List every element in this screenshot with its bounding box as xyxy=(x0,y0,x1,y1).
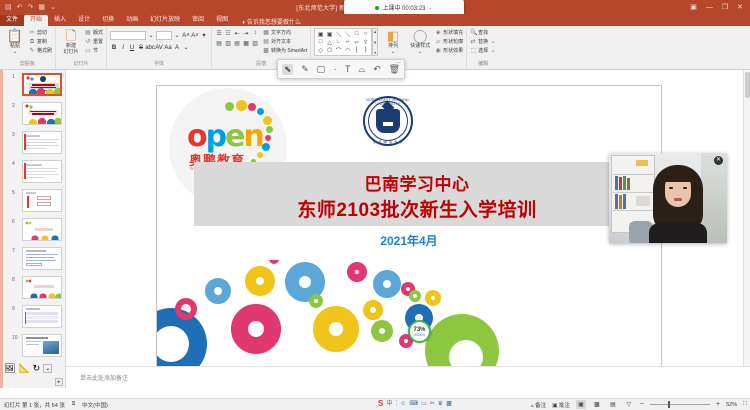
format-painter-label: 格式刷 xyxy=(37,47,52,55)
new-slide-label-2: 幻灯片 xyxy=(64,49,79,55)
font-group-label: 字体 xyxy=(110,61,208,69)
character-spacing-button[interactable]: AV xyxy=(155,43,163,52)
shapes-gallery-scroll[interactable]: ▲ ▼ ▾ xyxy=(372,28,378,56)
shape-outline-icon: ▱ xyxy=(435,38,441,46)
shape-square2-icon[interactable]: □ xyxy=(316,38,325,46)
thumbnail-slide-9[interactable] xyxy=(22,305,62,328)
shape-fill-icon: ◈ xyxy=(435,29,441,37)
shape-outline-label: 形状轮廓 xyxy=(443,38,463,46)
text-tool-icon[interactable]: T xyxy=(345,65,351,74)
media-control-strip[interactable]: 🖼 📐 ↻ ⌄ xyxy=(4,360,52,376)
language-label[interactable]: 中文(中国) xyxy=(82,401,108,409)
change-case-button[interactable]: Aa xyxy=(164,43,172,52)
scissors-icon: ✂ xyxy=(29,29,35,37)
ribbon-group-slides: 🗋 新建 幻灯片 ▤ 版式 ↺ 重置 ▭ 节 xyxy=(56,26,107,69)
thumbnail-number-3: 3 xyxy=(12,132,15,138)
select-button[interactable]: ⬚ 选择 ⌄ xyxy=(470,47,496,55)
screenshot-icon[interactable]: 🖼 xyxy=(4,363,15,374)
sogou-logo-icon[interactable]: S xyxy=(378,400,383,408)
ribbon-group-font: ⌄ ⌄ A˄ A˅ ✦ B I U S abc AV Aa A ⌄ xyxy=(107,26,212,69)
thumbnail-number-6: 6 xyxy=(12,219,15,225)
select-dropdown-icon[interactable]: ⌄ xyxy=(490,47,496,55)
slide-count-label: 幻灯片 第 1 张，共 54 张 xyxy=(4,401,65,409)
shape-rect-icon[interactable]: ▣ xyxy=(316,30,325,38)
shape-outline-button[interactable]: ▱ 形状轮廓 xyxy=(435,38,463,46)
tab-animations[interactable]: 动画 xyxy=(120,15,144,26)
select-icon: ⬚ xyxy=(470,47,476,55)
ime-crown-icon[interactable]: ♛ xyxy=(438,401,443,407)
format-painter-icon: ✎ xyxy=(29,47,35,55)
columns-button[interactable]: ▥ xyxy=(251,39,259,47)
pointer-tool-icon[interactable]: ⬉ xyxy=(282,64,294,75)
tab-insert[interactable]: 插入 xyxy=(48,15,72,26)
undo-tool-icon[interactable]: ↶ xyxy=(373,65,381,74)
editing-group-label: 编辑 xyxy=(470,61,496,69)
shape-circle-icon[interactable]: ○ xyxy=(361,30,370,38)
align-text-label: 对齐文本 xyxy=(271,38,291,46)
decrease-indent-button[interactable]: ⇤ xyxy=(233,29,241,37)
thumbnail-slide-8[interactable] xyxy=(22,276,62,299)
format-painter-button[interactable]: ✎ 格式刷 xyxy=(29,47,52,55)
shape-arrow-up-icon[interactable]: ⇧ xyxy=(361,38,370,46)
normal-view-button[interactable]: ▣ xyxy=(576,400,586,409)
find-button[interactable]: 🔍 查找 xyxy=(470,29,496,37)
bullets-button[interactable]: ☰ xyxy=(215,29,223,37)
thumbnail-number-4: 4 xyxy=(12,161,15,167)
paste-icon: 📋 xyxy=(7,29,23,43)
shape-square-icon[interactable]: □ xyxy=(352,30,361,38)
font-color-dropdown-icon[interactable]: ⌄ xyxy=(182,43,190,52)
tab-home[interactable]: 开始 xyxy=(24,15,48,26)
share-screen-icon[interactable]: 📐 xyxy=(18,363,29,374)
font-size-dropdown-icon[interactable]: ⌄ xyxy=(173,31,181,40)
quick-styles-button[interactable]: ◯ 快速样式 ⌄ xyxy=(408,28,432,55)
zoom-slider-track xyxy=(650,404,710,405)
notes-pane[interactable]: 单击此处添加备注 xyxy=(66,366,750,388)
quick-styles-icon: ◯ xyxy=(413,29,428,43)
shape-fill-label: 形状填充 xyxy=(443,29,463,37)
scroll-down-icon[interactable]: ▼ xyxy=(373,40,377,45)
notes-toggle-button[interactable]: ▵ 备注 xyxy=(531,401,546,409)
copy-icon: ⧉ xyxy=(29,38,35,46)
minimize-button[interactable]: — xyxy=(706,4,713,11)
replace-label: 替换 xyxy=(478,38,488,46)
chevron-down-icon[interactable]: ⌄ xyxy=(428,5,432,11)
tab-review[interactable]: 审阅 xyxy=(186,15,210,26)
shape-rect2-icon[interactable]: ▣ xyxy=(325,30,334,38)
underline-button[interactable]: U xyxy=(128,43,136,52)
shape-paren-icon[interactable]: ) xyxy=(361,46,370,54)
paste-dropdown-icon[interactable]: ⌄ xyxy=(13,49,17,55)
thumbnail-slide-5[interactable] xyxy=(22,189,62,212)
cut-button[interactable]: ✂ 剪切 xyxy=(29,29,52,37)
decorative-circle-band xyxy=(157,260,661,370)
recording-dot-icon xyxy=(375,6,379,10)
ink-annotation-toolbar[interactable]: — ⬉ ✎ ▢ ⌄ T ⌓ ↶ 🗑 xyxy=(277,59,405,79)
tab-transitions[interactable]: 切换 xyxy=(96,15,120,26)
arrange-button[interactable]: ◧ 排列 ⌄ xyxy=(381,28,405,55)
thumbnail-pane-expand-button[interactable]: ▸ xyxy=(55,378,63,386)
quick-styles-dropdown-icon[interactable]: ⌄ xyxy=(418,49,422,55)
slide-thumbnail-pane[interactable]: 1 2 3 xyxy=(0,70,66,388)
slide-title-line-2: 东师2103批次新生入学培训 xyxy=(194,195,640,222)
thumbnail-rail xyxy=(0,70,3,388)
reset-button[interactable]: ↺ 重置 xyxy=(85,38,103,46)
ribbon-group-editing: 🔍 查找 ⇄ 替换 ⌄ ⬚ 选择 ⌄ 编辑 xyxy=(467,26,499,69)
layout-label: 版式 xyxy=(93,29,103,37)
sogou-ime-bar[interactable]: S 中 ⁚ ☺ ⌨ ▭ ✂ ♛ ▩ xyxy=(378,398,452,409)
new-slide-icon: 🗋 xyxy=(66,29,76,43)
increase-font-size-icon[interactable]: A˄ xyxy=(182,31,190,40)
justify-button[interactable]: ▦ xyxy=(242,39,250,47)
shape-curve-icon[interactable]: ◠ xyxy=(343,46,352,54)
shape-line-icon[interactable]: ＼ xyxy=(334,30,343,38)
zoom-out-button[interactable]: − xyxy=(640,401,644,408)
slide-title-line-1: 巴南学习中心 xyxy=(194,170,640,195)
select-label: 选择 xyxy=(478,47,488,55)
ribbon-tab-bar: 文件 开始 插入 设计 切换 动画 幻灯片放映 审阅 视图 ♦ 告诉我您想要做什… xyxy=(0,14,750,26)
section-icon: ▭ xyxy=(85,47,91,55)
recording-status-pill[interactable]: 上课中 00:03:23 ⌄ xyxy=(344,0,464,15)
thumbnail-number-10: 10 xyxy=(12,335,18,341)
toolbar-collapse-icon[interactable]: — xyxy=(396,60,401,66)
shadow-button[interactable]: S xyxy=(137,43,145,52)
shape-bracket-icon[interactable]: ⌐ xyxy=(343,38,352,46)
webcam-eye-left xyxy=(669,187,673,189)
powerpoint-window: ▤ ↶ ↷ ▦ ⌄ [东北师范大学] 新生入学培训（巴南）.pptx - Pow… xyxy=(0,0,750,410)
shape-fill-button[interactable]: ◈ 形状填充 xyxy=(435,29,463,37)
work-area: 1 2 3 xyxy=(0,70,750,388)
reset-icon: ↺ xyxy=(85,38,91,46)
webcam-video-overlay[interactable]: ✕ xyxy=(609,153,727,243)
spellcheck-icon[interactable]: ⌸ xyxy=(72,401,75,408)
fit-slide-button[interactable]: ⛶ xyxy=(743,401,747,408)
reading-view-button[interactable]: ▤ xyxy=(608,400,618,409)
font-color-button[interactable]: A xyxy=(173,43,181,52)
copy-label: 复制 xyxy=(37,38,47,46)
italic-button[interactable]: I xyxy=(119,43,127,52)
ime-menu-icon[interactable]: ▩ xyxy=(446,401,452,407)
webcam-bangs xyxy=(663,171,693,182)
slide-pane-scrollbar[interactable] xyxy=(743,70,750,366)
shape-pentagon-icon[interactable]: ⬠ xyxy=(325,46,334,54)
current-slide[interactable]: open 奥鹏教育 www.open.com.cn NORTHEAST NORM… xyxy=(157,86,661,370)
tell-me-search[interactable]: ♦ 告诉我您想要做什么 xyxy=(234,17,301,26)
logo-wordmark: open xyxy=(187,122,263,152)
webcam-torso xyxy=(649,223,707,243)
slide-date: 2021年4月 xyxy=(157,232,661,249)
ribbon-display-options-icon[interactable]: ▣ xyxy=(690,4,697,11)
layout-button[interactable]: ▤ 版式 xyxy=(85,29,103,37)
thumbnail-slide-7[interactable] xyxy=(22,247,62,270)
thumbnail-slide-1[interactable] xyxy=(22,73,62,96)
tab-design[interactable]: 设计 xyxy=(72,15,96,26)
bold-button[interactable]: B xyxy=(110,43,118,52)
cut-label: 剪切 xyxy=(37,29,47,37)
shape-effects-icon: ◉ xyxy=(435,47,441,55)
align-text-icon: ▤ xyxy=(263,38,269,46)
decrease-font-size-icon[interactable]: A˅ xyxy=(191,31,199,40)
webcam-eye-right xyxy=(683,187,687,189)
slides-group-label: 幻灯片 xyxy=(59,61,103,69)
find-label: 查找 xyxy=(478,29,488,37)
ribbon-group-clipboard: 📋 粘贴 ⌄ ✂ 剪切 ⧉ 复制 ✎ 格式刷 xyxy=(0,26,56,69)
shape-tool-icon[interactable]: ▢ xyxy=(317,65,326,74)
webcam-mouth xyxy=(674,198,682,201)
font-size-input[interactable] xyxy=(156,31,172,40)
shapes-gallery[interactable]: ▣ ▣ ＼ ＼ □ ○ □ △ ∟ ⌐ ⇦ ⇧ ◇ ⬠ ⌒ xyxy=(314,28,372,56)
ime-mode-chinese-icon[interactable]: 中 xyxy=(386,401,392,407)
thumbnail-number-1: 1 xyxy=(12,74,15,80)
thumbnail-number-9: 9 xyxy=(12,306,15,312)
numbering-button[interactable]: ☷ xyxy=(224,29,232,37)
ime-tools-icon[interactable]: ✂ xyxy=(430,401,435,407)
thumbnail-number-5: 5 xyxy=(12,190,15,196)
shape-effects-button[interactable]: ◉ 形状效果 xyxy=(435,47,463,55)
copy-button[interactable]: ⧉ 复制 xyxy=(29,38,52,46)
university-seal: NORTHEAST NORMAL UNIVERSITY 东 北 师 范 大 学 xyxy=(354,94,420,152)
reset-label: 重置 xyxy=(93,38,103,46)
comments-toggle-button[interactable]: ▣ 批注 xyxy=(552,401,570,409)
download-speed: 392K/s xyxy=(414,333,425,337)
align-left-button[interactable]: ▤ xyxy=(215,39,223,47)
font-name-input[interactable] xyxy=(110,31,146,40)
align-center-button[interactable]: ▥ xyxy=(224,39,232,47)
ime-panel-icon[interactable]: ▭ xyxy=(421,401,427,407)
increase-indent-button[interactable]: ⇥ xyxy=(242,29,250,37)
strikethrough-button[interactable]: abc xyxy=(146,43,154,52)
seal-text-top: NORTHEAST NORMAL UNIVERSITY xyxy=(354,98,422,106)
new-slide-button[interactable]: 🗋 新建 幻灯片 xyxy=(59,28,83,55)
thumbnail-slide-6[interactable] xyxy=(22,218,62,241)
shape-effects-label: 形状效果 xyxy=(443,47,463,55)
section-label: 节 xyxy=(93,47,98,55)
thumbnail-number-7: 7 xyxy=(12,248,15,254)
thumbnail-number-2: 2 xyxy=(12,103,15,109)
slideshow-view-button[interactable]: ▽ xyxy=(624,400,634,409)
restore-button[interactable]: ❐ xyxy=(722,4,728,11)
shape-diamond-icon[interactable]: ◇ xyxy=(316,46,325,54)
zoom-slider-handle[interactable] xyxy=(668,401,670,408)
more-options-icon[interactable]: ⌄ xyxy=(43,364,52,373)
shape-arc-icon[interactable]: ⌒ xyxy=(334,46,343,54)
section-button[interactable]: ▭ 节 xyxy=(85,47,103,55)
replace-dropdown-icon[interactable]: ⌄ xyxy=(490,38,496,46)
convert-smartart-label: 转换为 SmartArt xyxy=(271,47,307,55)
download-progress-badge[interactable]: 73% 392K/s xyxy=(408,320,431,343)
seal-text-bottom: 东 北 师 范 大 学 xyxy=(354,140,422,145)
thumbnail-slide-3[interactable] xyxy=(22,131,62,154)
tab-slideshow[interactable]: 幻灯片放映 xyxy=(144,15,186,26)
close-button[interactable]: ✕ xyxy=(737,4,743,11)
replace-button[interactable]: ⇄ 替换 ⌄ xyxy=(470,38,496,46)
shapes-more-icon[interactable]: ▾ xyxy=(374,50,376,55)
convert-smartart-button[interactable]: ▩ 转换为 SmartArt xyxy=(263,47,307,55)
shape-dropdown-icon[interactable]: ⌄ xyxy=(333,67,337,72)
shape-brace-icon[interactable]: { xyxy=(352,46,361,54)
zoom-slider[interactable] xyxy=(650,400,710,409)
text-direction-icon: ▦ xyxy=(263,29,269,37)
paste-button[interactable]: 📋 粘贴 ⌄ xyxy=(3,28,27,55)
status-bar: 幻灯片 第 1 张，共 54 张 ⌸ 中文(中国) ▵ 备注 ▣ 批注 ▣ ▩ … xyxy=(0,398,750,410)
text-direction-button[interactable]: ▦ 文字方向 xyxy=(263,29,307,37)
ime-keyboard-icon[interactable]: ⌨ xyxy=(409,401,418,407)
thumbnail-slide-4[interactable] xyxy=(22,160,62,183)
pen-tool-icon[interactable]: ✎ xyxy=(301,65,309,74)
scroll-up-icon[interactable]: ▲ xyxy=(373,29,377,34)
ime-emoji-icon[interactable]: ☺ xyxy=(400,401,406,407)
clear-formatting-icon[interactable]: ✦ xyxy=(200,31,208,40)
text-direction-label: 文字方向 xyxy=(271,29,291,37)
font-name-dropdown-icon[interactable]: ⌄ xyxy=(147,31,155,40)
smartart-icon: ▩ xyxy=(263,47,269,55)
line-spacing-button[interactable]: ↕ xyxy=(251,29,259,37)
thumbnail-number-8: 8 xyxy=(12,277,15,283)
scrollbar-thumb[interactable] xyxy=(745,72,750,98)
recording-label: 上课中 00:03:23 xyxy=(382,3,425,12)
shape-arrow-left-icon[interactable]: ⇦ xyxy=(352,38,361,46)
shape-arrow-icon[interactable]: ＼ xyxy=(343,30,352,38)
clipboard-group-label: 剪贴板 xyxy=(3,61,52,69)
thumbnail-slide-10[interactable] xyxy=(22,334,62,357)
zoom-level-label[interactable]: 52% xyxy=(726,402,737,408)
arrange-icon: ◧ xyxy=(387,29,399,43)
eraser-tool-icon[interactable]: ⌓ xyxy=(358,65,365,74)
slide-sorter-view-button[interactable]: ▩ xyxy=(592,400,602,409)
shape-triangle-icon[interactable]: △ xyxy=(325,38,334,46)
tab-view[interactable]: 视图 xyxy=(210,15,234,26)
align-text-button[interactable]: ▤ 对齐文本 xyxy=(263,38,307,46)
close-icon[interactable]: ✕ xyxy=(714,156,723,165)
ime-punctuation-icon[interactable]: ⁚ xyxy=(395,401,397,407)
notes-placeholder: 单击此处添加备注 xyxy=(80,373,128,382)
align-right-button[interactable]: ▤ xyxy=(233,39,241,47)
zoom-in-button[interactable]: + xyxy=(716,401,720,408)
window-controls[interactable]: ▣ — ❐ ✕ xyxy=(690,0,748,14)
refresh-icon[interactable]: ↻ xyxy=(33,363,41,374)
search-icon: 🔍 xyxy=(470,29,476,37)
arrange-dropdown-icon[interactable]: ⌄ xyxy=(391,49,395,55)
replace-icon: ⇄ xyxy=(470,38,476,46)
slide-title-box[interactable]: 巴南学习中心 东师2103批次新生入学培训 xyxy=(194,162,640,226)
layout-icon: ▤ xyxy=(85,29,91,37)
thumbnail-slide-2[interactable] xyxy=(22,102,62,125)
tab-file[interactable]: 文件 xyxy=(0,15,24,26)
